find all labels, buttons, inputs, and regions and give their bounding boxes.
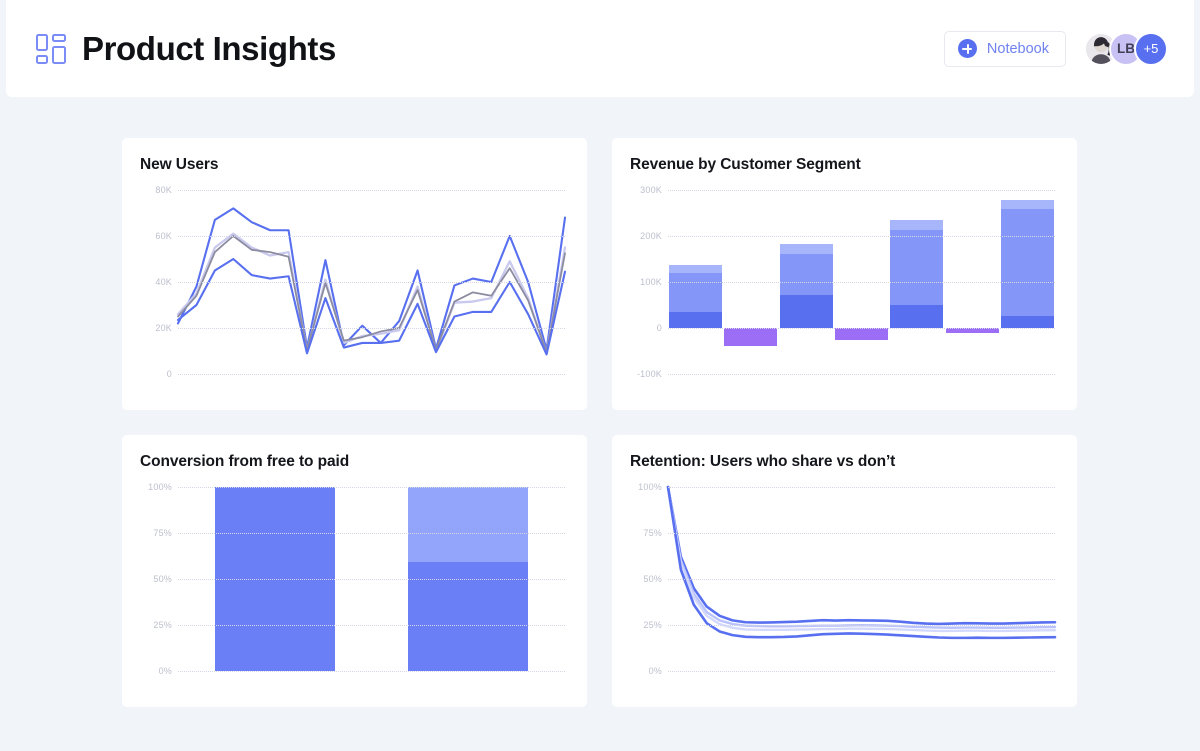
bar-segment-base — [1001, 316, 1054, 328]
bar-segment-loss — [835, 328, 888, 340]
card-title: New Users — [140, 156, 567, 174]
bar-segment-mid — [669, 273, 722, 312]
bar-segment-remaining — [408, 487, 528, 562]
line-series — [668, 487, 1055, 631]
gridline — [178, 328, 565, 329]
y-axis-tick-label: 100K — [640, 277, 662, 287]
bar-segment-mid — [1001, 209, 1054, 316]
brand: Product Insights — [36, 30, 336, 68]
y-axis-tick-label: 0% — [159, 666, 172, 676]
y-axis-tick-label: 80K — [155, 185, 172, 195]
y-axis-tick-label: -100K — [637, 369, 662, 379]
gridline — [668, 579, 1055, 580]
line-series — [668, 487, 1055, 628]
gridline — [178, 533, 565, 534]
more-users-avatar[interactable]: +5 — [1134, 32, 1168, 66]
gridline — [668, 487, 1055, 488]
line-series — [668, 487, 1055, 638]
y-axis-tick-label: 0% — [649, 666, 662, 676]
gridline — [178, 282, 565, 283]
plot-area: -100K0100K200K300K — [668, 190, 1055, 374]
y-axis-tick-label: 300K — [640, 185, 662, 195]
dashboard-page: Product Insights Notebook — [0, 0, 1200, 751]
y-axis-tick-label: 75% — [153, 528, 172, 538]
page-title: Product Insights — [82, 30, 336, 68]
bar-segment-top — [780, 244, 833, 254]
line-series — [668, 487, 1055, 624]
bar-segment-loss — [724, 328, 777, 346]
grid-dashboard-icon — [36, 34, 66, 64]
header-actions: Notebook — [944, 31, 1168, 67]
bar-segment-mid — [780, 254, 833, 295]
plus-circle-icon — [958, 39, 977, 58]
gridline — [668, 533, 1055, 534]
bar-segment-base — [780, 295, 833, 328]
notebook-button-label: Notebook — [987, 41, 1049, 57]
gridline — [178, 236, 565, 237]
gridline — [668, 671, 1055, 672]
plot-area: 0%25%50%75%100% — [178, 487, 565, 671]
gridline — [668, 328, 1055, 329]
bar-segment-top — [1001, 200, 1054, 209]
dashboard-grid: New Users 020K40K60K80K Revenue by Custo… — [122, 138, 1078, 707]
bar-segment-base — [890, 305, 943, 328]
card-title: Revenue by Customer Segment — [630, 156, 1057, 174]
gridline — [668, 236, 1055, 237]
gridline — [178, 579, 565, 580]
chart-new-users: 020K40K60K80K — [140, 180, 567, 396]
plot-area: 020K40K60K80K — [178, 190, 565, 374]
card-retention-share-vs-dont[interactable]: Retention: Users who share vs don’t 0%25… — [612, 435, 1077, 707]
gridline — [178, 374, 565, 375]
gridline — [178, 625, 565, 626]
y-axis-tick-label: 25% — [153, 620, 172, 630]
y-axis-tick-label: 75% — [643, 528, 662, 538]
bar-segment-base — [669, 312, 722, 328]
gridline — [668, 625, 1055, 626]
y-axis-tick-label: 100% — [638, 482, 662, 492]
y-axis-tick-label: 40K — [155, 277, 172, 287]
y-axis-tick-label: 0 — [657, 323, 662, 333]
y-axis-tick-label: 200K — [640, 231, 662, 241]
y-axis-tick-label: 20K — [155, 323, 172, 333]
card-new-users[interactable]: New Users 020K40K60K80K — [122, 138, 587, 410]
y-axis-tick-label: 100% — [148, 482, 172, 492]
notebook-button[interactable]: Notebook — [944, 31, 1066, 67]
gridline — [668, 282, 1055, 283]
app-header: Product Insights Notebook — [6, 0, 1194, 97]
card-title: Conversion from free to paid — [140, 453, 567, 471]
gridline — [178, 671, 565, 672]
y-axis-tick-label: 60K — [155, 231, 172, 241]
gridline — [668, 190, 1055, 191]
line-series — [178, 234, 565, 354]
gridline — [178, 190, 565, 191]
chart-retention-share-vs-dont: 0%25%50%75%100% — [630, 477, 1057, 693]
plot-area: 0%25%50%75%100% — [668, 487, 1055, 671]
y-axis-tick-label: 50% — [153, 574, 172, 584]
bar-segment-top — [669, 265, 722, 273]
chart-revenue-by-customer-segment: -100K0100K200K300K — [630, 180, 1057, 396]
gridline — [178, 487, 565, 488]
card-conversion-free-to-paid[interactable]: Conversion from free to paid 0%25%50%75%… — [122, 435, 587, 707]
line-series — [178, 236, 565, 352]
chart-conversion-free-to-paid: 0%25%50%75%100% — [140, 477, 567, 693]
bar-segment-top — [890, 220, 943, 230]
y-axis-tick-label: 25% — [643, 620, 662, 630]
y-axis-tick-label: 50% — [643, 574, 662, 584]
avatar-group: LB +5 — [1084, 32, 1168, 66]
card-revenue-by-customer-segment[interactable]: Revenue by Customer Segment -100K0100K20… — [612, 138, 1077, 410]
bar-segment-mid — [890, 230, 943, 305]
gridline — [668, 374, 1055, 375]
y-axis-tick-label: 0 — [167, 369, 172, 379]
card-title: Retention: Users who share vs don’t — [630, 453, 1057, 471]
